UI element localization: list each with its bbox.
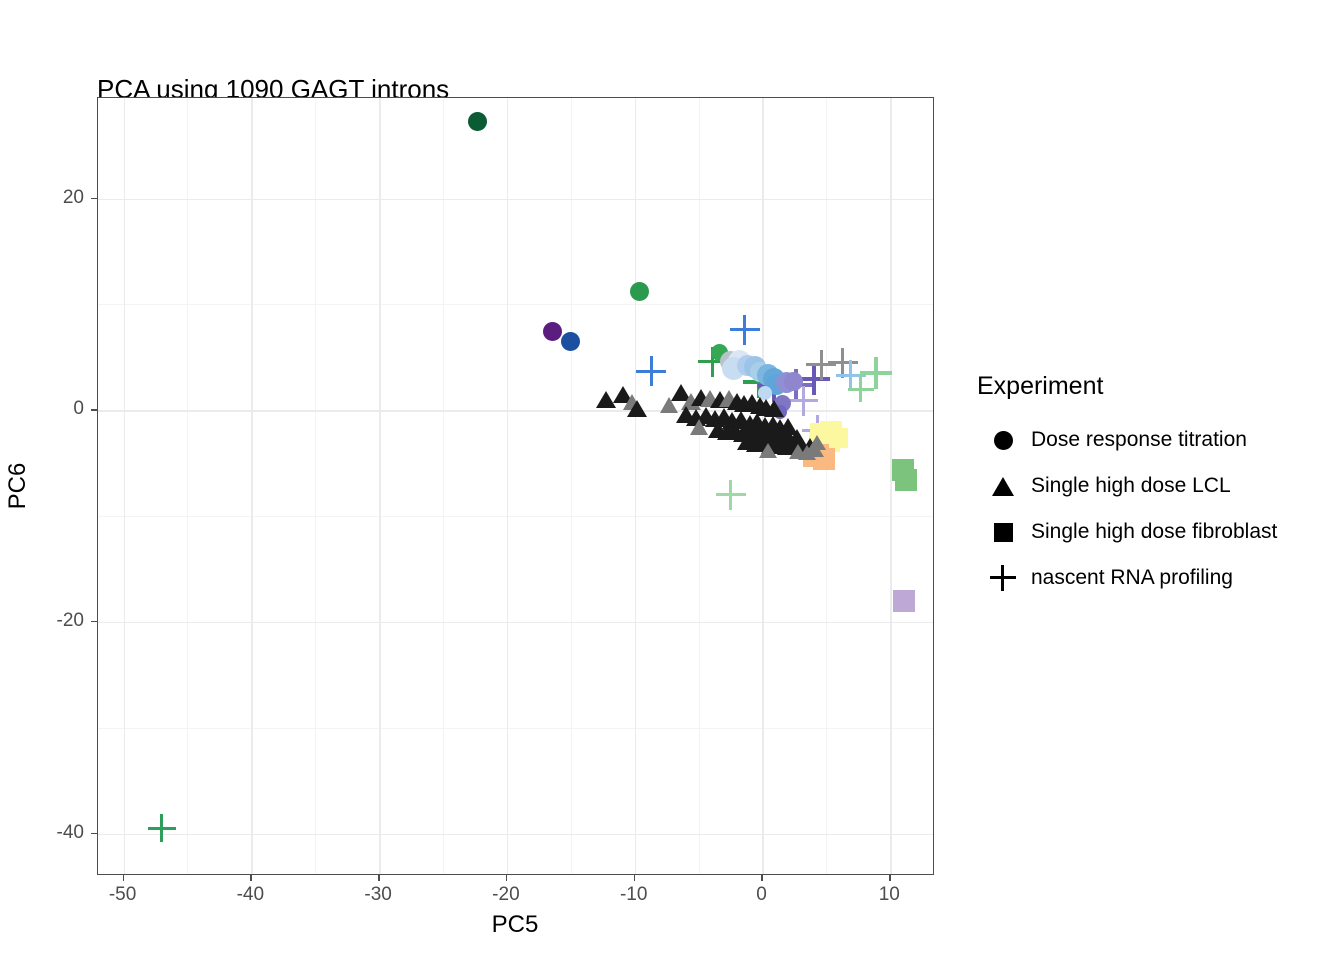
legend-items: Dose response titrationSingle high dose … — [975, 417, 1335, 601]
x-axis-tick — [889, 875, 890, 881]
data-point-triangle — [740, 415, 760, 432]
data-point-triangle — [755, 417, 775, 434]
data-point-triangle — [613, 386, 633, 403]
data-point-triangle — [660, 397, 678, 413]
data-point-square — [828, 428, 848, 448]
data-point-triangle — [747, 413, 767, 430]
data-point-triangle — [756, 426, 776, 443]
triangle-icon — [992, 477, 1014, 496]
data-point-triangle — [690, 419, 708, 435]
data-point-square — [893, 590, 915, 612]
data-point-triangle — [779, 430, 799, 447]
data-point-triangle — [708, 421, 728, 438]
data-point-cross — [860, 357, 892, 389]
data-point-triangle — [627, 400, 647, 417]
data-point-triangle — [777, 438, 797, 455]
x-axis-tick-label: 0 — [756, 884, 767, 906]
x-axis-tick-label: -20 — [492, 884, 519, 906]
data-point-circle — [766, 374, 787, 395]
data-point-triangle — [731, 411, 751, 428]
legend-item-label: Single high dose fibroblast — [1031, 520, 1277, 544]
data-point-triangle — [714, 408, 734, 425]
x-axis-title: PC5 — [492, 911, 539, 939]
data-point-circle — [758, 386, 772, 400]
data-point-triangle — [806, 442, 824, 457]
x-axis-tick — [506, 875, 507, 881]
plot-panel — [97, 97, 934, 875]
data-point-circle — [737, 355, 758, 376]
data-point-triangle — [710, 391, 730, 408]
legend-item-triangle[interactable]: Single high dose LCL — [975, 463, 1335, 509]
data-point-triangle — [741, 424, 761, 441]
data-point-triangle — [771, 427, 791, 444]
data-point-triangle — [759, 443, 777, 458]
data-point-cross — [836, 360, 866, 390]
data-point-triangle — [789, 444, 807, 459]
data-point-square — [809, 432, 829, 452]
x-axis-tick — [250, 875, 251, 881]
x-axis-tick — [123, 875, 124, 881]
x-axis-tick — [634, 875, 635, 881]
data-point-triangle — [737, 433, 757, 450]
data-point-circle — [776, 372, 797, 393]
legend-key-triangle-icon — [975, 477, 1031, 496]
legend-item-square[interactable]: Single high dose fibroblast — [975, 509, 1335, 555]
y-axis-tick — [91, 409, 97, 410]
data-point-triangle — [686, 409, 706, 426]
data-point-square — [810, 423, 832, 445]
data-point-triangle — [596, 391, 616, 408]
data-point-triangle — [764, 428, 784, 445]
data-point-triangle — [756, 399, 776, 416]
data-point-square — [818, 430, 840, 452]
square-icon — [994, 523, 1013, 542]
circle-icon — [994, 431, 1013, 450]
data-point-circle — [561, 332, 580, 351]
data-point-circle — [744, 356, 766, 378]
legend-key-cross-icon — [975, 565, 1031, 591]
data-point-circle — [750, 362, 770, 382]
legend-item-circle[interactable]: Dose response titration — [975, 417, 1335, 463]
x-axis-tick-label: -50 — [109, 884, 136, 906]
data-point-triangle — [717, 423, 737, 440]
y-axis-tick-label: -40 — [57, 822, 84, 844]
data-point-triangle — [681, 393, 701, 410]
data-point-triangle — [764, 400, 784, 417]
data-point-triangle — [691, 389, 711, 406]
data-point-triangle — [671, 384, 691, 401]
cross-icon — [990, 565, 1016, 591]
legend-item-label: Dose response titration — [1031, 428, 1247, 452]
legend-item-label: Single high dose LCL — [1031, 474, 1231, 498]
data-point-square — [895, 469, 917, 491]
legend-title: Experiment — [977, 372, 1335, 401]
x-axis-tick-label: -30 — [364, 884, 391, 906]
data-point-square — [892, 459, 914, 481]
data-point-square — [813, 448, 835, 470]
legend: Experiment Dose response titrationSingle… — [975, 372, 1335, 601]
data-point-triangle — [798, 445, 816, 460]
y-axis-tick-label: -20 — [57, 610, 84, 632]
data-point-circle — [720, 351, 741, 372]
data-point-triangle — [696, 407, 716, 424]
data-point-triangle — [770, 419, 790, 436]
x-axis-tick — [378, 875, 379, 881]
data-point-triangle — [719, 390, 739, 407]
x-axis-tick — [761, 875, 762, 881]
y-axis-tick-label: 20 — [63, 187, 84, 209]
data-point-circle — [711, 344, 728, 361]
data-point-cross — [716, 480, 746, 510]
data-point-cross — [758, 370, 790, 402]
data-point-triangle — [778, 418, 798, 435]
legend-item-label: nascent RNA profiling — [1031, 566, 1233, 590]
data-point-circle — [773, 405, 787, 419]
data-point-cross — [148, 814, 176, 842]
data-point-circle — [728, 350, 751, 373]
data-point-triangle — [725, 422, 745, 439]
data-point-cross — [802, 440, 832, 470]
legend-key-square-icon — [975, 523, 1031, 542]
data-point-triangle — [722, 412, 742, 429]
data-point-triangle — [787, 429, 807, 446]
data-point-triangle — [792, 439, 812, 456]
data-point-circle — [774, 395, 791, 412]
legend-key-circle-icon — [975, 431, 1031, 450]
data-point-triangle — [734, 395, 754, 412]
data-point-cross — [743, 366, 775, 398]
data-point-triangle — [746, 435, 766, 452]
data-point-circle — [757, 364, 779, 386]
data-point-circle — [763, 368, 785, 390]
data-point-triangle — [761, 437, 781, 454]
x-axis-tick-label: -40 — [237, 884, 264, 906]
data-point-cross — [802, 415, 832, 445]
data-point-triangle — [808, 435, 826, 450]
data-point-cross — [788, 386, 818, 416]
data-point-cross — [828, 348, 858, 378]
data-point-circle — [784, 372, 803, 391]
data-point-circle — [630, 282, 649, 301]
x-axis-tick-label: -10 — [620, 884, 647, 906]
data-point-triangle — [676, 406, 696, 423]
data-point-triangle — [754, 434, 774, 451]
data-point-triangle — [748, 427, 768, 444]
data-point-triangle — [763, 416, 783, 433]
y-axis-tick-label: 0 — [73, 398, 84, 420]
y-axis-tick — [91, 621, 97, 622]
data-points-layer — [98, 98, 933, 874]
y-axis-title: PC6 — [4, 463, 32, 510]
data-point-circle — [468, 112, 487, 131]
data-point-square — [820, 421, 842, 443]
data-point-triangle — [705, 410, 725, 427]
y-axis-tick — [91, 198, 97, 199]
data-point-circle — [543, 322, 562, 341]
legend-item-cross[interactable]: nascent RNA profiling — [975, 555, 1335, 601]
data-point-triangle — [784, 437, 804, 454]
data-point-square — [803, 445, 825, 467]
data-point-triangle — [800, 438, 820, 455]
data-point-triangle — [769, 436, 789, 453]
data-point-cross — [780, 369, 812, 401]
data-point-cross — [798, 363, 830, 395]
data-point-cross — [730, 315, 760, 345]
data-point-cross — [698, 347, 728, 377]
data-point-cross — [636, 356, 666, 386]
data-point-triangle — [733, 425, 753, 442]
x-axis-tick-label: 10 — [879, 884, 900, 906]
data-point-triangle — [750, 397, 770, 414]
data-point-triangle — [623, 394, 641, 410]
data-point-cross — [848, 376, 874, 402]
data-point-square — [809, 444, 829, 464]
data-point-cross — [806, 350, 836, 380]
y-axis-tick — [91, 833, 97, 834]
data-point-triangle — [742, 394, 762, 411]
data-point-circle — [722, 357, 745, 380]
data-point-triangle — [727, 393, 747, 410]
data-point-triangle — [700, 390, 720, 407]
